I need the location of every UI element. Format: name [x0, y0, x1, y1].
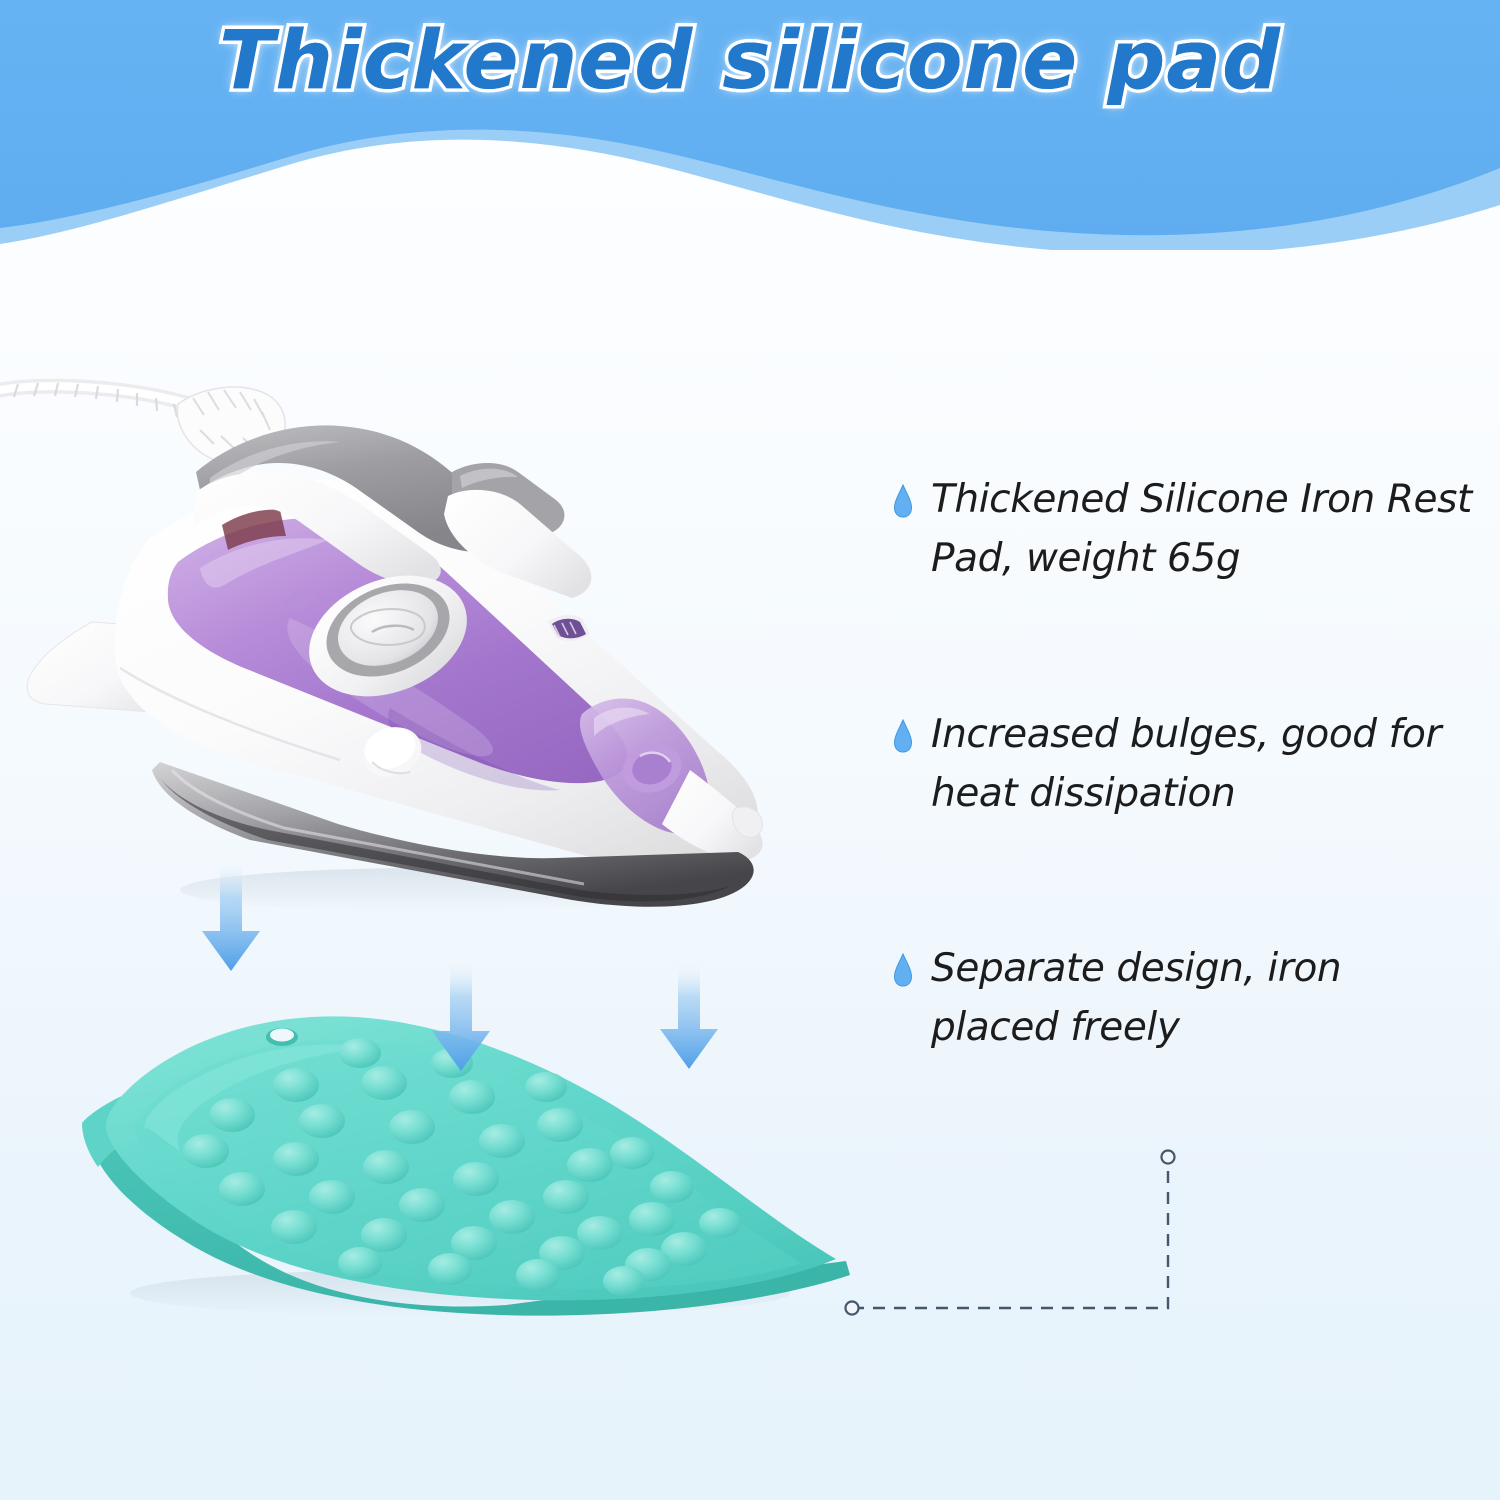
pad-bump [489, 1200, 535, 1234]
pad-bump [567, 1148, 613, 1182]
pad-bump [603, 1266, 645, 1296]
pad-bump [650, 1171, 694, 1203]
pad-bump [577, 1216, 623, 1250]
pad-bump [271, 1210, 317, 1244]
pad-bump [610, 1137, 654, 1169]
pad-bump [389, 1110, 435, 1144]
feature-text-2: Increased bulges, good for heat dissipat… [931, 705, 1441, 824]
down-arrow-1 [202, 855, 260, 971]
feature-list: Thickened Silicone Iron Rest Pad, weight… [893, 470, 1483, 1058]
pad-bump [299, 1104, 345, 1138]
page-title: Thickened silicone pad [0, 14, 1500, 108]
feature-text-1: Thickened Silicone Iron Rest Pad, weight… [931, 470, 1472, 589]
pad-bump [363, 1150, 409, 1184]
down-arrows-group [190, 845, 770, 1085]
pad-bump [543, 1180, 589, 1214]
pad-bump [428, 1253, 472, 1285]
pad-bump [309, 1180, 355, 1214]
infographic-page: Thickened silicone pad Thickened silicon… [0, 0, 1500, 1500]
pad-bump [537, 1108, 583, 1142]
dimension-callout [830, 1130, 1230, 1320]
callout-dashed-line [852, 1160, 1168, 1308]
pad-bump [361, 1218, 407, 1252]
steam-iron-image [0, 300, 840, 940]
feature-item-3: Separate design, iron placed freely [893, 939, 1483, 1058]
callout-endpoint-left [846, 1302, 859, 1315]
pad-bump [183, 1134, 229, 1168]
iron-drop-bullet-icon [893, 484, 913, 518]
feature-item-1: Thickened Silicone Iron Rest Pad, weight… [893, 470, 1483, 589]
pad-bump [629, 1202, 675, 1236]
down-arrow-2 [432, 955, 490, 1071]
pad-bump [209, 1098, 255, 1132]
pad-bump [219, 1172, 265, 1206]
feature-text-3: Separate design, iron placed freely [931, 939, 1341, 1058]
iron-drop-bullet-icon [893, 953, 913, 987]
pad-bump [699, 1208, 741, 1238]
callout-endpoint-top [1162, 1151, 1175, 1164]
iron-drop-bullet-icon [893, 719, 913, 753]
pad-bump [273, 1142, 319, 1176]
pad-bump [399, 1188, 445, 1222]
down-arrow-3 [660, 957, 718, 1069]
feature-item-2: Increased bulges, good for heat dissipat… [893, 705, 1483, 824]
pad-bump [516, 1259, 560, 1291]
pad-bump [338, 1247, 382, 1279]
pad-bump [449, 1080, 495, 1114]
pad-bump [453, 1162, 499, 1196]
pad-bump [479, 1124, 525, 1158]
